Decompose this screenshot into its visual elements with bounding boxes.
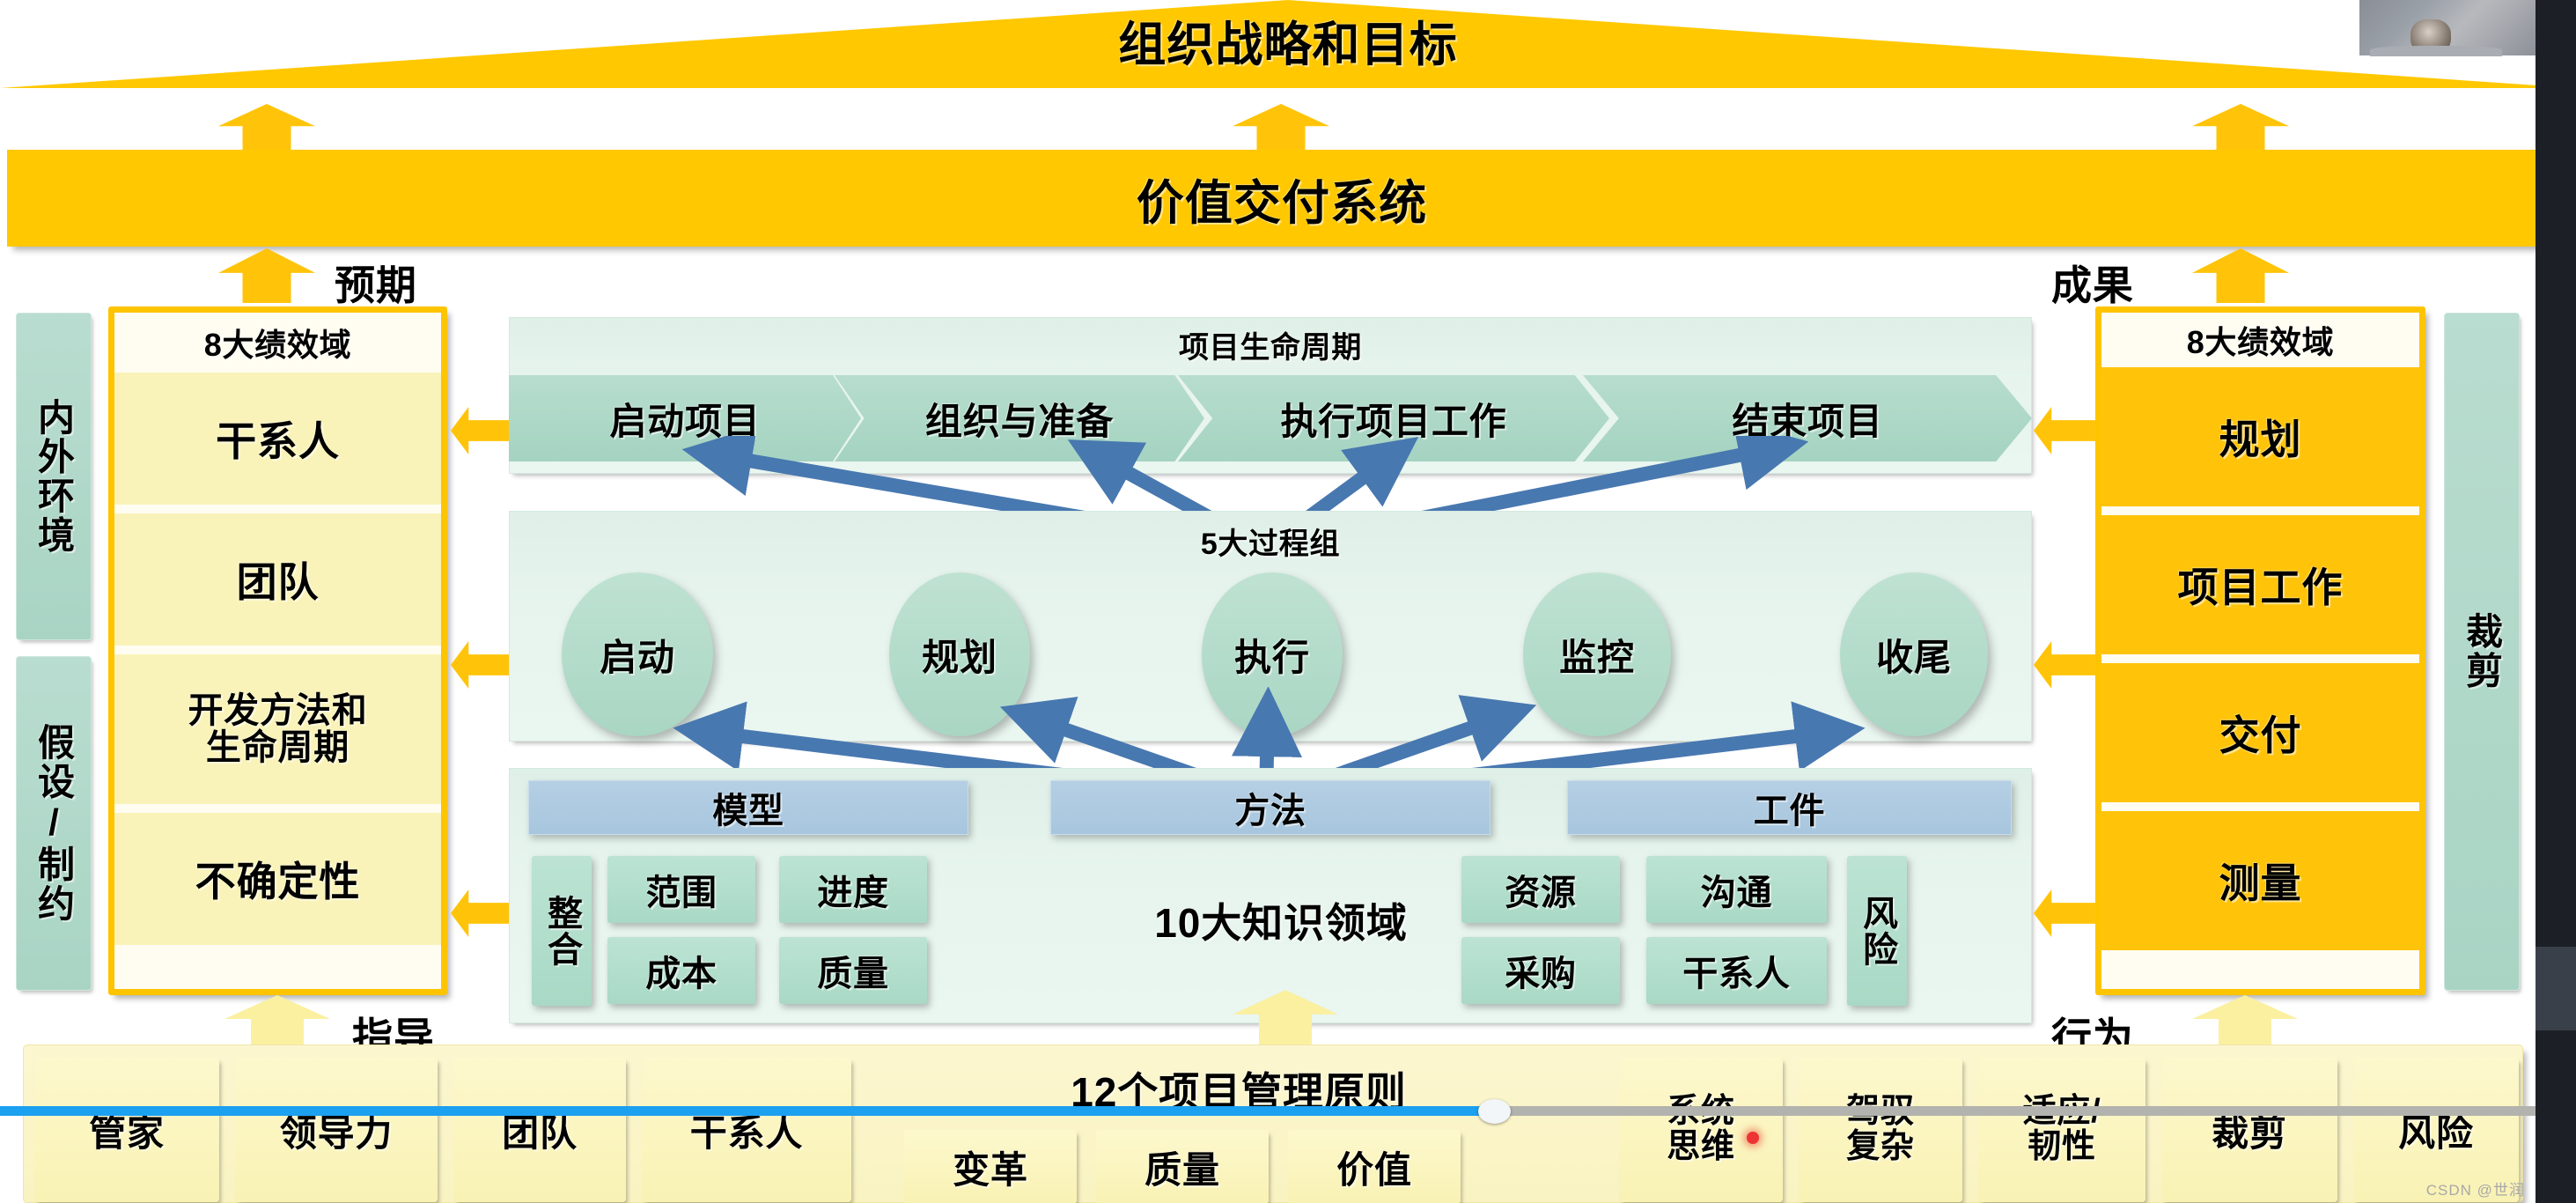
- slide-canvas: 组织战略和目标 价值交付系统 预期 成果 内外环境 假设/制约 8大绩效域 干系…: [0, 0, 2576, 1203]
- up-arrow-vds-to-roof-1: [218, 104, 315, 153]
- knowledge-areas-title: 10大知识领域: [1105, 889, 1457, 951]
- knowledge-area-quality: 质量: [779, 937, 927, 1004]
- perf-right-cell-measurement: 测量: [2101, 811, 2419, 950]
- video-progress-fill: [0, 1106, 1494, 1116]
- webcam-video-inset[interactable]: [2359, 0, 2536, 55]
- value-delivery-system-title: 价值交付系统: [7, 150, 2557, 247]
- principle-stakeholder: 干系人: [642, 1058, 851, 1202]
- webcam-shoulder: [2370, 46, 2502, 56]
- recording-indicator-dot: [1747, 1132, 1759, 1144]
- up-arrow-outcome: [2192, 248, 2289, 303]
- perf-left-cell-stakeholder: 干系人: [114, 373, 441, 505]
- label-expected: 预期: [335, 254, 417, 312]
- up-arrow-behavior: [2192, 995, 2298, 1048]
- principle-tailoring: 裁剪: [2161, 1058, 2337, 1202]
- left-env-assumptions-constraints: 假设/制约: [16, 656, 92, 991]
- knowledge-area-risk: 风险: [1847, 856, 1907, 1006]
- twelve-principles-panel: 管家 领导力 团队 干系人 12个项目管理原则 变革 质量 价值 系统思维 驾驭…: [23, 1044, 2523, 1203]
- process-group-closing: 收尾: [1840, 572, 1988, 736]
- perf-left-cell-team: 团队: [114, 513, 441, 646]
- csdn-watermark: CSDN @世润: [2426, 1177, 2525, 1199]
- lifecycle-stage-organize: 组织与准备: [835, 375, 1204, 461]
- perf-right-cell-delivery: 交付: [2101, 663, 2419, 802]
- process-group-monitoring: 监控: [1523, 572, 1671, 736]
- up-arrow-guide: [224, 995, 330, 1048]
- perf-right-title: 8大绩效域: [2101, 313, 2419, 367]
- perf-domains-right-panel: 8大绩效域 规划 项目工作 交付 测量: [2095, 306, 2425, 995]
- principle-team: 团队: [453, 1058, 626, 1202]
- lifecycle-stage-start: 启动项目: [509, 375, 861, 461]
- perf-right-cell-planning: 规划: [2101, 367, 2419, 506]
- lifecycle-stage-close: 结束项目: [1583, 375, 2032, 461]
- knowledge-area-cost: 成本: [607, 937, 755, 1004]
- principle-complexity: 驾驭复杂: [1799, 1058, 1962, 1202]
- video-progress-handle[interactable]: [1478, 1099, 1511, 1124]
- knowledge-area-scope: 范围: [607, 856, 755, 923]
- principle-stewardship: 管家: [34, 1058, 219, 1202]
- principle-quality: 质量: [1096, 1130, 1269, 1203]
- knowledge-area-schedule: 进度: [779, 856, 927, 923]
- up-arrow-vds-to-roof-2: [1233, 104, 1329, 153]
- roof-title: 组织战略和目标: [0, 2, 2576, 77]
- perf-domains-left-panel: 8大绩效域 干系人 团队 开发方法和生命周期 不确定性: [108, 306, 447, 995]
- principle-systems-thinking: 系统思维: [1619, 1058, 1783, 1202]
- process-group-initiating: 启动: [562, 572, 713, 736]
- knowledge-area-communication: 沟通: [1646, 856, 1827, 923]
- right-env-tailoring: 裁剪: [2444, 313, 2520, 991]
- principle-adaptability-resilience: 适应/韧性: [1978, 1058, 2145, 1202]
- up-arrow-expected: [218, 248, 315, 303]
- perf-left-cell-uncertainty: 不确定性: [114, 813, 441, 945]
- process-group-planning: 规划: [889, 572, 1030, 736]
- perf-left-cell-dev-approach-line1: 开发方法和生命周期: [188, 692, 368, 766]
- knowledge-area-stakeholder: 干系人: [1646, 937, 1827, 1004]
- label-outcome: 成果: [2051, 254, 2134, 312]
- tool-bar-artifacts: 工件: [1567, 780, 2012, 835]
- left-env-internal-external: 内外环境: [16, 313, 92, 640]
- value-delivery-system-bar: 价值交付系统: [7, 150, 2557, 247]
- lifecycle-stage-execute: 执行项目工作: [1178, 375, 1609, 461]
- right-dark-strip-segment: [2536, 947, 2576, 1030]
- knowledge-area-integration: 整合: [532, 856, 592, 1006]
- perf-left-title: 8大绩效域: [114, 313, 441, 373]
- principle-leadership: 领导力: [235, 1058, 438, 1202]
- tool-bar-models: 模型: [528, 780, 968, 835]
- perf-left-cell-dev-approach: 开发方法和生命周期: [114, 654, 441, 804]
- knowledge-area-resource: 资源: [1461, 856, 1620, 923]
- process-group-executing: 执行: [1202, 572, 1343, 736]
- perf-right-cell-project-work: 项目工作: [2101, 515, 2419, 654]
- lifecycle-title: 项目生命周期: [510, 318, 2031, 365]
- up-arrow-vds-to-roof-3: [2192, 104, 2289, 153]
- principle-value: 价值: [1288, 1130, 1461, 1203]
- knowledge-area-procurement: 采购: [1461, 937, 1620, 1004]
- principle-change: 变革: [904, 1130, 1077, 1203]
- process-groups-title: 5大过程组: [510, 512, 2031, 563]
- tool-bar-methods: 方法: [1050, 780, 1490, 835]
